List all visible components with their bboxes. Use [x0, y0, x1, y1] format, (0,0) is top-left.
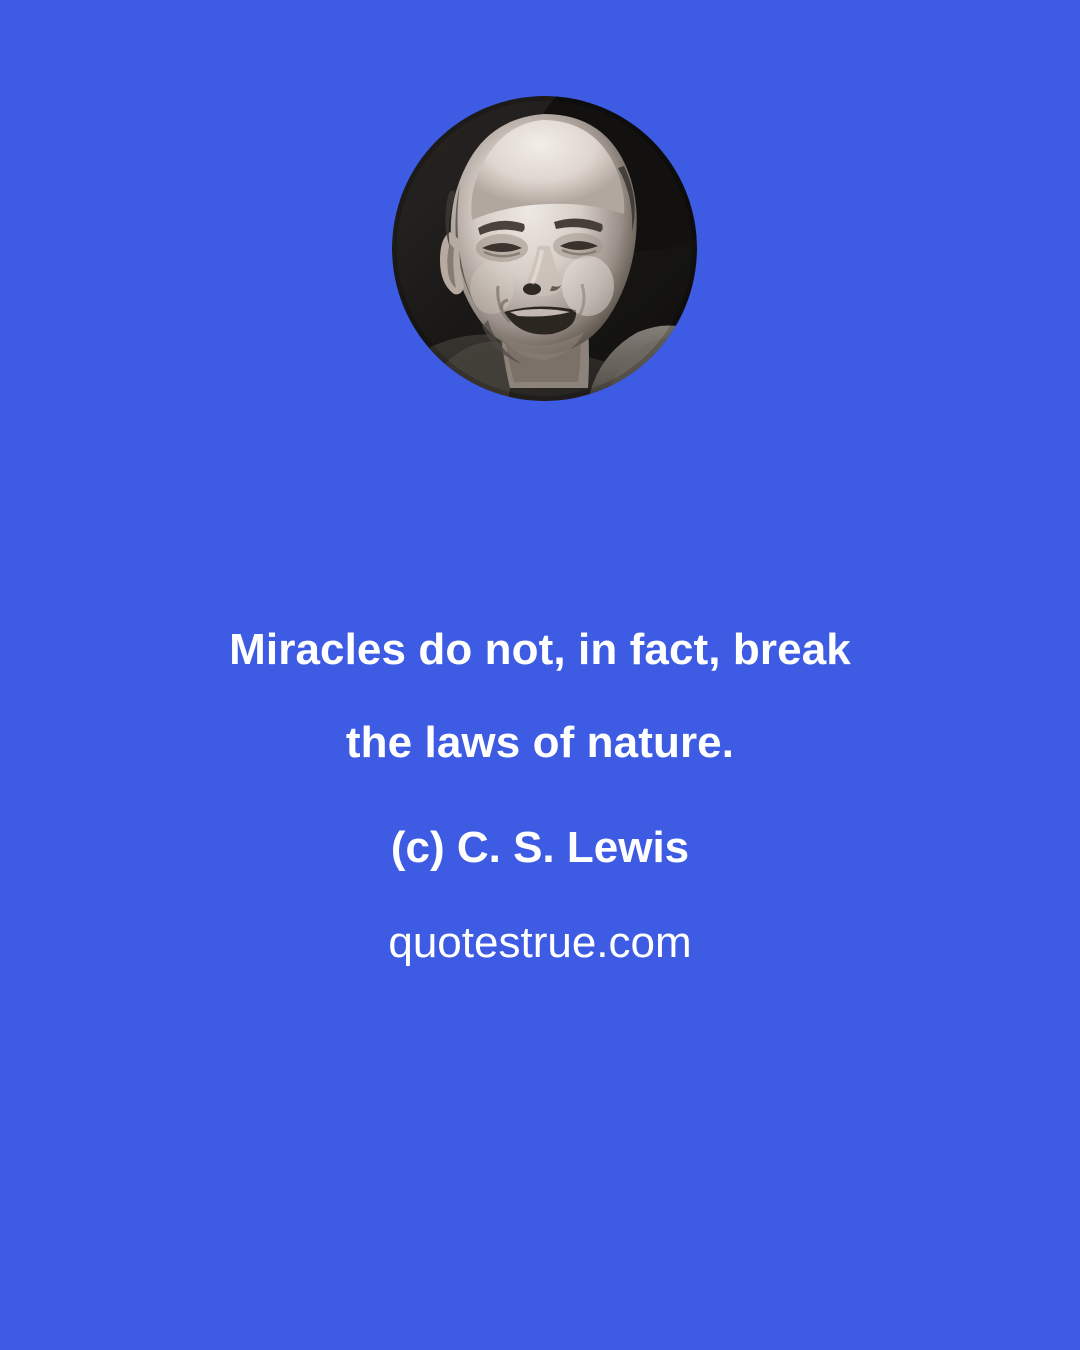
source-website[interactable]: quotestrue.com	[0, 921, 1080, 965]
author-portrait-photo	[392, 96, 697, 401]
quote-card: Miracles do not, in fact, break the laws…	[0, 0, 1080, 1350]
quote-attribution: (c) C. S. Lewis	[0, 826, 1080, 870]
quote-line-2: the laws of nature.	[0, 721, 1080, 765]
portrait-illustration	[392, 96, 697, 401]
quote-line-1: Miracles do not, in fact, break	[0, 628, 1080, 672]
